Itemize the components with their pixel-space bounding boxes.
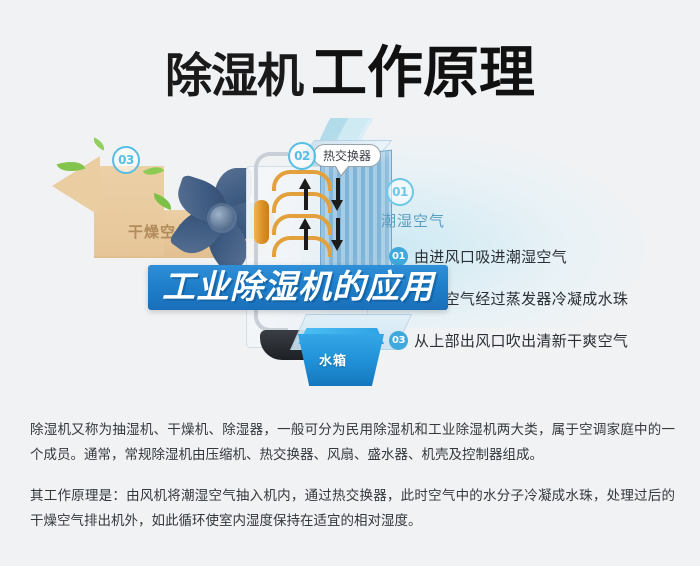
paragraph-1: 除湿机又称为抽湿机、干燥机、除湿器，一般可分为民用除湿机和工业除湿机两大类，属于…: [30, 418, 675, 468]
diagram-badge-01: 01: [386, 178, 414, 206]
page-title-part2: 工作原理: [311, 41, 535, 106]
description-block: 除湿机又称为抽湿机、干燥机、除湿器，一般可分为民用除湿机和工业除湿机两大类，属于…: [30, 418, 675, 550]
water-tank-label: 水箱: [319, 350, 347, 369]
page-title-part1: 除湿机: [165, 49, 303, 104]
list-item: 03 从上部出风口吹出清新干爽空气: [389, 330, 689, 351]
step-text: 从上部出风口吹出清新干爽空气: [414, 330, 628, 351]
paragraph-2: 其工作原理是：由风机将潮湿空气抽入机内，通过热交换器，此时空气中的水分子冷凝成水…: [30, 484, 675, 534]
overlay-banner-text: 工业除湿机的应用: [162, 267, 434, 306]
leaf-icon: [91, 137, 107, 150]
overlay-banner: 工业除湿机的应用: [148, 265, 448, 310]
humid-air-label: 潮湿空气: [381, 210, 445, 231]
compressor-icon: [254, 200, 269, 244]
step-text: 由进风口吸进潮湿空气: [414, 246, 567, 267]
step-badge: 01: [389, 247, 408, 266]
infographic-page: 除湿机工作原理 干燥空气: [0, 0, 700, 566]
heat-exchanger-callout: 热交换器: [313, 144, 381, 167]
list-item: 01 由进风口吸进潮湿空气: [389, 246, 689, 267]
diagram-badge-03: 03: [112, 146, 140, 174]
page-title: 除湿机工作原理: [0, 28, 700, 109]
diagram-badge-02: 02: [288, 142, 316, 170]
dehumidifier-machine-illustration: 水箱: [246, 144, 398, 374]
step-badge: 03: [389, 331, 408, 350]
